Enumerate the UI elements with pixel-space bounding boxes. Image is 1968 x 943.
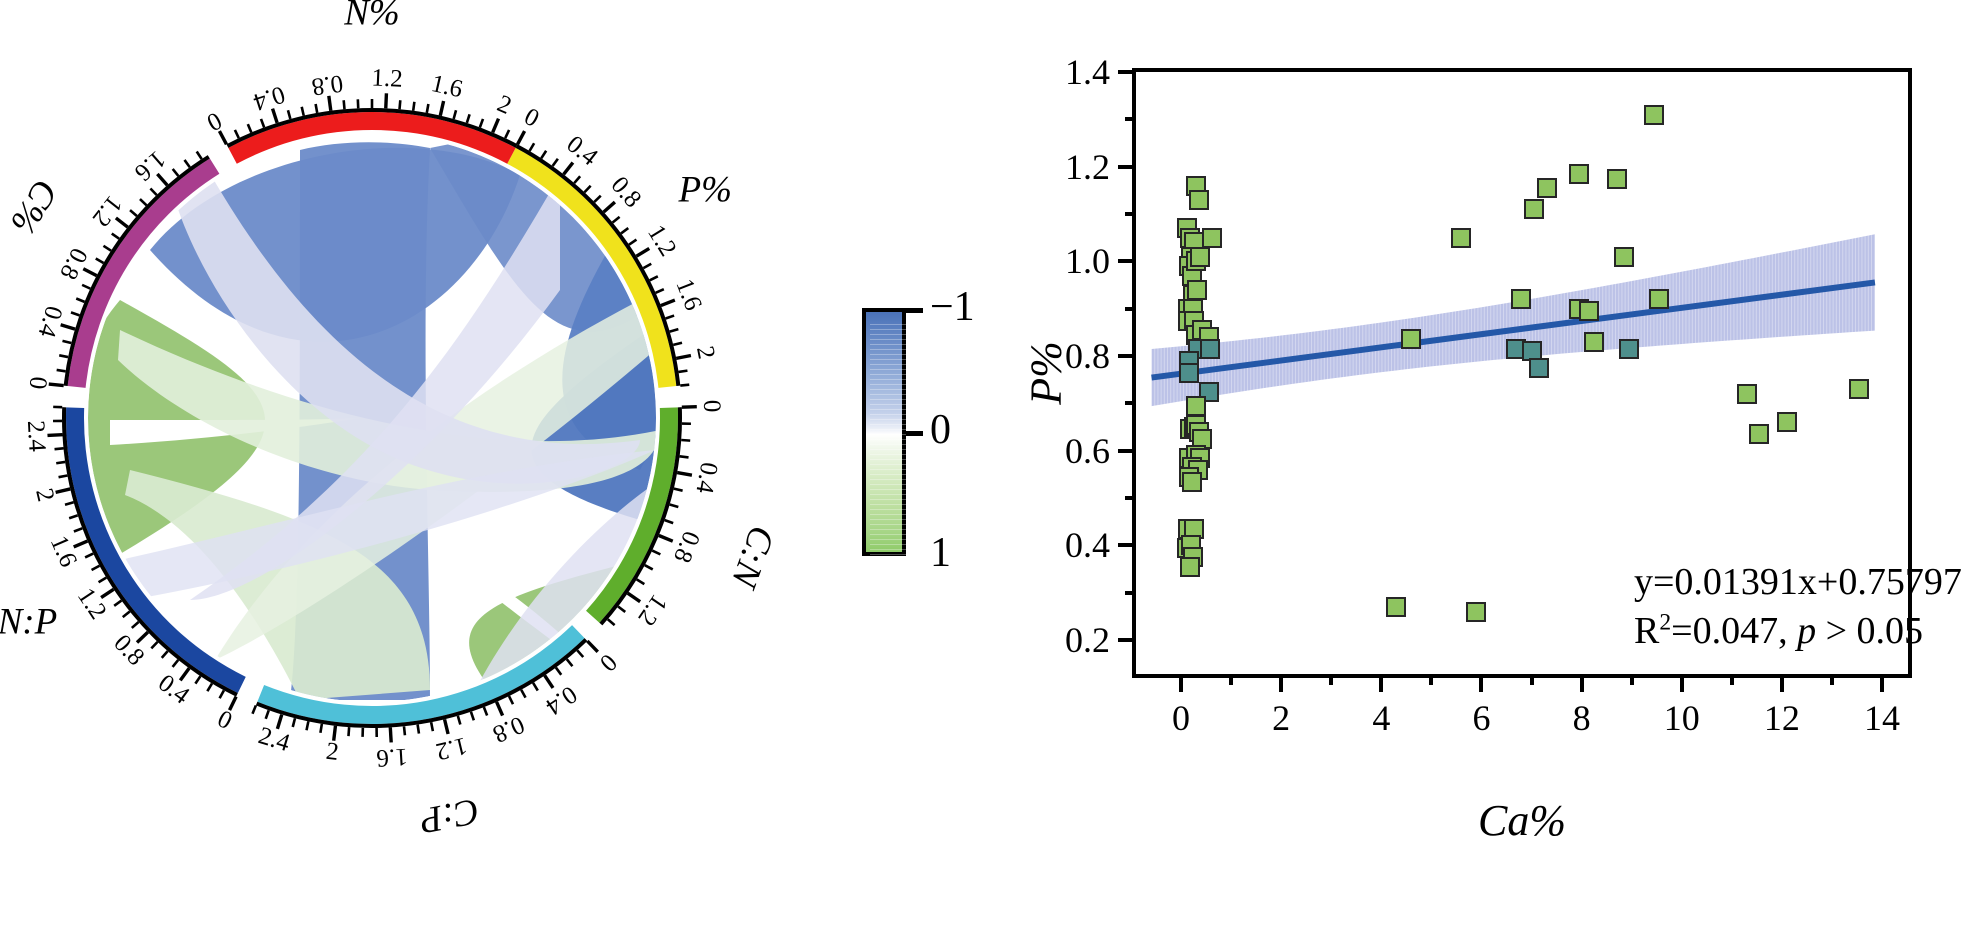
scatter-point	[1529, 358, 1549, 378]
scatter-point	[1777, 412, 1797, 432]
regression-annotation: y=0.01391x+0.75797 R2=0.047, p > 0.05	[1634, 558, 1962, 657]
x-tick-label: 8	[1573, 700, 1591, 736]
scatter-point	[1614, 247, 1634, 267]
chord-tick-label: 0	[202, 106, 226, 136]
y-tick-minor	[1125, 496, 1136, 500]
scatter-point	[1190, 247, 1210, 267]
colorbar-gradient	[862, 308, 906, 556]
x-tick-minor	[1429, 674, 1433, 685]
chord-tick-label: 2.4	[22, 420, 51, 453]
x-tick-minor	[1730, 674, 1734, 685]
chord-diagram-svg: 00.40.81.21.6200.40.81.200.40.81.21.622.…	[0, 0, 1010, 943]
scatter-plot-panel: P% Ca% y=0.01391x+0.75797 R2=0.047, p > …	[1010, 0, 1968, 943]
chord-tick-label: 2	[691, 344, 720, 361]
x-tick	[1479, 674, 1483, 692]
chord-tick-label: 0.4	[32, 303, 67, 341]
scatter-point	[1451, 228, 1471, 248]
scatter-point	[1569, 164, 1589, 184]
x-tick	[1179, 674, 1183, 692]
chord-tick-label: 2	[30, 486, 59, 504]
chord-tick-label: 1.6	[670, 275, 706, 314]
chord-tick-label: 0.4	[690, 460, 722, 496]
chord-tick-label: 0.4	[561, 131, 603, 172]
x-tick	[1279, 674, 1283, 692]
colorbar-label-zero: 0	[930, 409, 951, 451]
x-tick	[1580, 674, 1584, 692]
y-tick-label: 0.8	[1065, 338, 1110, 374]
colorbar-tick-mid	[906, 431, 923, 436]
chord-tick-label: 0.4	[250, 80, 288, 115]
y-tick-label: 0.2	[1065, 622, 1110, 658]
annotation-pval: > 0.05	[1816, 610, 1923, 652]
chord-sector-label-cp: C:P	[416, 790, 482, 842]
y-tick	[1118, 70, 1136, 74]
chord-tick-label: 0.8	[668, 527, 705, 566]
scatter-point	[1649, 289, 1669, 309]
chord-tick-label: 0	[698, 399, 725, 412]
chord-diagram-panel: 00.40.81.21.6200.40.81.200.40.81.21.622.…	[0, 0, 1010, 943]
colorbar-label-one: 1	[930, 532, 951, 574]
y-axis-title: P%	[1021, 341, 1072, 405]
chord-tick-label: 0.8	[489, 710, 528, 747]
chord-tick-label: 1.2	[632, 590, 672, 631]
scatter-point	[1511, 289, 1531, 309]
x-tick	[1379, 674, 1383, 692]
x-tick-label: 2	[1272, 700, 1290, 736]
scatter-point	[1179, 363, 1199, 383]
plot-frame: y=0.01391x+0.75797 R2=0.047, p > 0.05 0.…	[1132, 68, 1912, 678]
chord-sector-label-p: P%	[678, 170, 732, 211]
x-tick-label: 4	[1372, 700, 1390, 736]
annotation-p: p	[1797, 610, 1816, 652]
chord-tick-label: 1.2	[371, 64, 403, 92]
y-tick-minor	[1125, 212, 1136, 216]
y-tick-label: 1.4	[1065, 54, 1110, 90]
colorbar-label-minus-one: −1	[930, 286, 975, 328]
x-tick-minor	[1530, 674, 1534, 685]
y-tick-label: 0.4	[1065, 527, 1110, 563]
figure-root: 00.40.81.21.6200.40.81.200.40.81.21.622.…	[0, 0, 1968, 943]
correlation-colorbar: −1 0 1	[862, 300, 1012, 570]
scatter-point	[1644, 105, 1664, 125]
chord-tick-label: 0.8	[310, 69, 345, 100]
chord-tick-label: 2	[493, 90, 515, 120]
y-tick-minor	[1125, 401, 1136, 405]
y-tick-label: 1.2	[1065, 149, 1110, 185]
y-tick	[1118, 259, 1136, 263]
x-tick-minor	[1229, 674, 1233, 685]
scatter-point	[1187, 280, 1207, 300]
scatter-point	[1537, 178, 1557, 198]
chord-tick-label: 0.4	[153, 669, 195, 710]
y-tick-minor	[1125, 307, 1136, 311]
y-tick-minor	[1125, 591, 1136, 595]
scatter-point	[1182, 472, 1202, 492]
scatter-point	[1584, 332, 1604, 352]
chord-sector-label-c: C%	[2, 172, 66, 241]
scatter-point	[1849, 379, 1869, 399]
y-tick	[1118, 165, 1136, 169]
x-tick-label: 6	[1472, 700, 1490, 736]
scatter-point	[1202, 228, 1222, 248]
chord-tick-label: 0	[213, 705, 236, 735]
y-tick	[1118, 449, 1136, 453]
scatter-point	[1466, 602, 1486, 622]
chord-sector-label-cn: C:N	[722, 521, 782, 595]
scatter-point	[1180, 557, 1200, 577]
chord-sector-label-n: N%	[343, 0, 400, 33]
chord-tick-label: 1.6	[429, 70, 465, 103]
x-tick-label: 14	[1864, 700, 1900, 736]
y-tick	[1118, 638, 1136, 642]
x-tick-label: 0	[1172, 700, 1190, 736]
x-tick	[1680, 674, 1684, 692]
scatter-point	[1386, 597, 1406, 617]
y-tick-minor	[1125, 117, 1136, 121]
colorbar-tick-top	[906, 308, 923, 313]
chord-tick-label: 2	[325, 738, 341, 766]
y-tick	[1118, 354, 1136, 358]
x-tick-minor	[1630, 674, 1634, 685]
annotation-r-exp: 2	[1659, 610, 1671, 636]
annotation-stats: R2=0.047, p > 0.05	[1634, 607, 1962, 656]
scatter-point	[1749, 424, 1769, 444]
annotation-r: R	[1634, 610, 1659, 652]
x-tick	[1780, 674, 1784, 692]
chord-tick-label: 0.4	[540, 680, 581, 720]
scatter-point	[1186, 396, 1206, 416]
x-tick-label: 12	[1764, 700, 1800, 736]
chord-tick-label: 0.8	[54, 244, 92, 284]
scatter-point	[1524, 199, 1544, 219]
annotation-rval: =0.047,	[1671, 610, 1797, 652]
chord-tick-label: 1.2	[72, 583, 112, 624]
chord-sector-label-np: N:P	[0, 602, 57, 643]
y-tick	[1118, 543, 1136, 547]
chord-tick-label: 0	[24, 375, 52, 390]
scatter-point	[1401, 329, 1421, 349]
y-tick-label: 0.6	[1065, 433, 1110, 469]
scatter-point	[1619, 339, 1639, 359]
chord-tick-label: 1.2	[87, 190, 128, 231]
scatter-point	[1579, 301, 1599, 321]
chord-tick-label: 0	[594, 648, 622, 676]
x-tick	[1880, 674, 1884, 692]
x-tick-label: 10	[1664, 700, 1700, 736]
y-tick-label: 1.0	[1065, 243, 1110, 279]
chord-tick-label: 1.2	[642, 220, 681, 261]
annotation-equation: y=0.01391x+0.75797	[1634, 558, 1962, 607]
scatter-point	[1189, 190, 1209, 210]
chord-tick-label: 1.2	[433, 732, 470, 766]
chord-tick-label: 2.4	[255, 722, 293, 757]
chord-tick-label: 0	[520, 103, 544, 133]
x-tick-minor	[1329, 674, 1333, 685]
scatter-point	[1607, 169, 1627, 189]
colorbar-stripes	[870, 324, 906, 564]
chord-tick-label: 1.6	[376, 743, 409, 772]
chord-tick-label: 1.6	[45, 532, 82, 571]
x-axis-title: Ca%	[1478, 795, 1566, 846]
x-tick-minor	[1830, 674, 1834, 685]
scatter-point	[1200, 339, 1220, 359]
scatter-point	[1737, 384, 1757, 404]
